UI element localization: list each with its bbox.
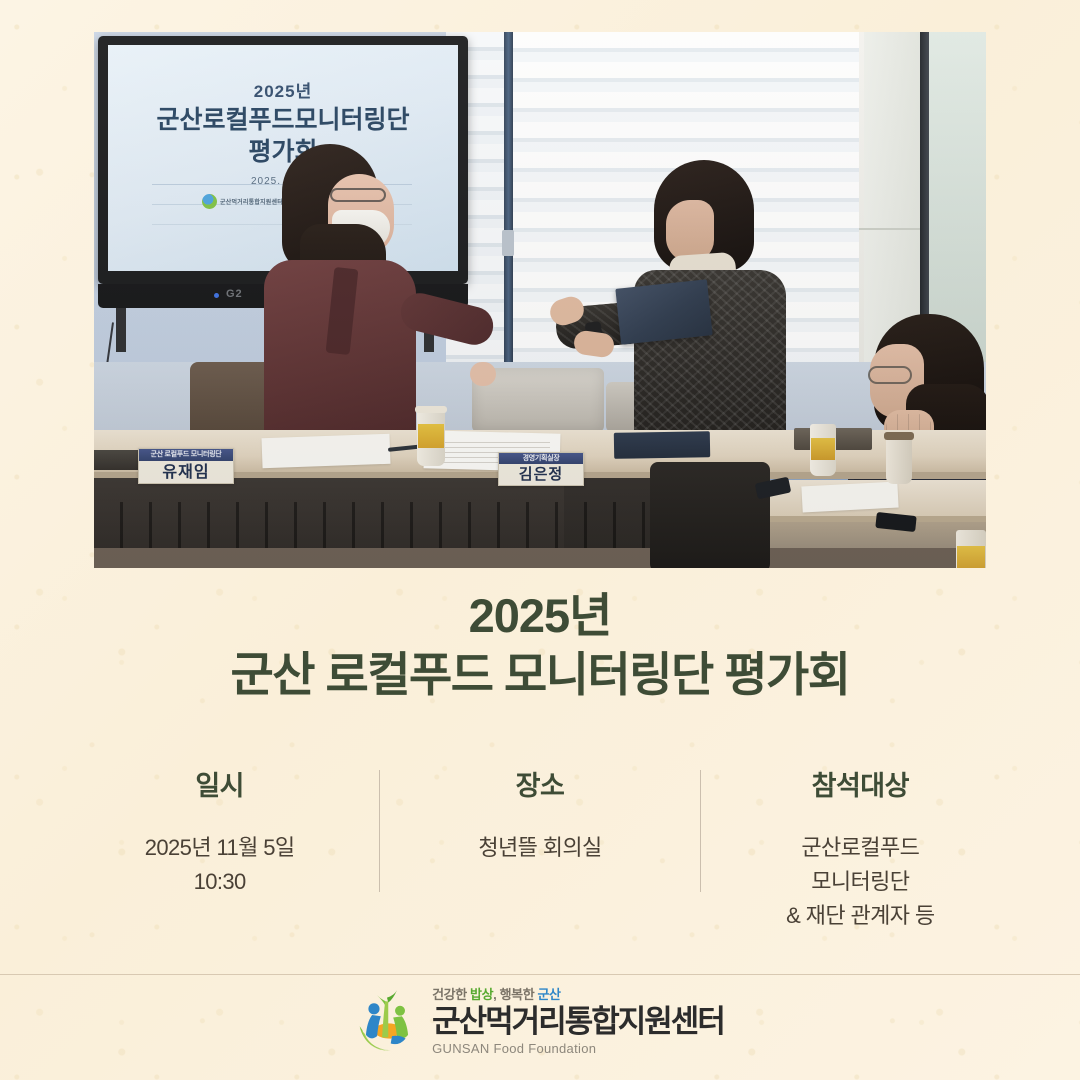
coffee-cup [886,436,912,484]
event-announcement-card: 2025년 군산로컬푸드모니터링단 평가회 2025. 11. 5. 군산먹거리… [0,0,1080,1080]
detail-line: 모니터링단 [701,865,1020,899]
title-line-2: 군산 로컬푸드 모니터링단 평가회 [0,644,1080,706]
detail-line: & 재단 관계자 등 [701,899,1020,933]
detail-line: 군산로컬푸드 [701,831,1020,865]
presenter-glasses [330,188,386,202]
footer-divider [0,974,1080,975]
document-sheet [262,434,391,468]
tagline-part-3: , 행복한 [493,987,537,1002]
title-line-1: 2025년 [0,588,1080,644]
slide-line-2: 군산로컬푸드모니터링단 [108,100,458,136]
nameplate-name: 김은정 [499,464,583,486]
monitor-power-led-icon [214,293,219,298]
monitor-brand-label: G2 [226,288,266,302]
detail-line: 2025년 11월 5일 [60,831,379,865]
nameplate: 경영기획실장 김은정 [498,452,584,486]
slide-line-3: 평가회 [108,132,458,168]
nameplate-title: 군산 로컬푸드 모니터링단 [139,449,233,461]
detail-heading-attendees: 참석대상 [701,764,1020,803]
slide-line-1: 2025년 [108,77,458,102]
tagline-part-2: 밥상 [470,987,493,1002]
page-title: 2025년 군산 로컬푸드 모니터링단 평가회 [0,588,1080,706]
detail-column-attendees: 참석대상 군산로컬푸드 모니터링단 & 재단 관계자 등 [701,764,1020,933]
detail-heading-date: 일시 [60,764,379,803]
event-details: 일시 2025년 11월 5일 10:30 장소 청년뜰 회의실 참석대상 군산… [60,764,1020,933]
monitor-stand [116,308,126,352]
glass-partition [929,32,986,362]
nameplate-title: 경영기획실장 [499,453,583,464]
tagline-part-4: 군산 [537,987,560,1002]
detail-heading-place: 장소 [380,764,699,803]
slide-logo-icon [202,194,217,209]
coffee-cup [810,424,836,476]
organization-name: 군산먹거리통합지원센터 [432,1004,724,1040]
window-latch [502,230,514,256]
logo-wordmark: 건강한 밥상, 행복한 군산 군산먹거리통합지원센터 GUNSAN Food F… [432,984,724,1056]
coffee-cup [956,530,986,568]
detail-body-place: 청년뜰 회의실 [380,831,699,865]
award-folder [615,279,712,344]
document-sheet [801,482,898,513]
slide-logo-caption: 군산먹거리통합지원센터 [220,197,283,206]
tagline-part-1: 건강한 [432,987,470,1002]
organization-footer: 건강한 밥상, 행복한 군산 군산먹거리통합지원센터 GUNSAN Food F… [0,984,1080,1056]
detail-column-date: 일시 2025년 11월 5일 10:30 [60,764,379,899]
presenter-hand [470,362,496,386]
floor [94,548,986,568]
detail-line: 10:30 [60,865,379,899]
folder-on-table [614,431,710,459]
detail-body-attendees: 군산로컬푸드 모니터링단 & 재단 관계자 등 [701,831,1020,933]
logo-tagline: 건강한 밥상, 행복한 군산 [432,984,724,1003]
gunsan-food-foundation-logo-icon [356,989,418,1051]
detail-column-place: 장소 청년뜰 회의실 [380,764,699,865]
chair [650,462,770,568]
nameplate-name: 유재임 [139,461,233,484]
event-photo: 2025년 군산로컬푸드모니터링단 평가회 2025. 11. 5. 군산먹거리… [94,32,986,568]
detail-body-date: 2025년 11월 5일 10:30 [60,831,379,899]
attendee-glasses [868,366,912,384]
nameplate: 군산 로컬푸드 모니터링단 유재임 [138,448,234,484]
detail-line: 청년뜰 회의실 [380,831,699,865]
organization-name-english: GUNSAN Food Foundation [432,1041,724,1056]
coffee-cup [417,410,445,466]
